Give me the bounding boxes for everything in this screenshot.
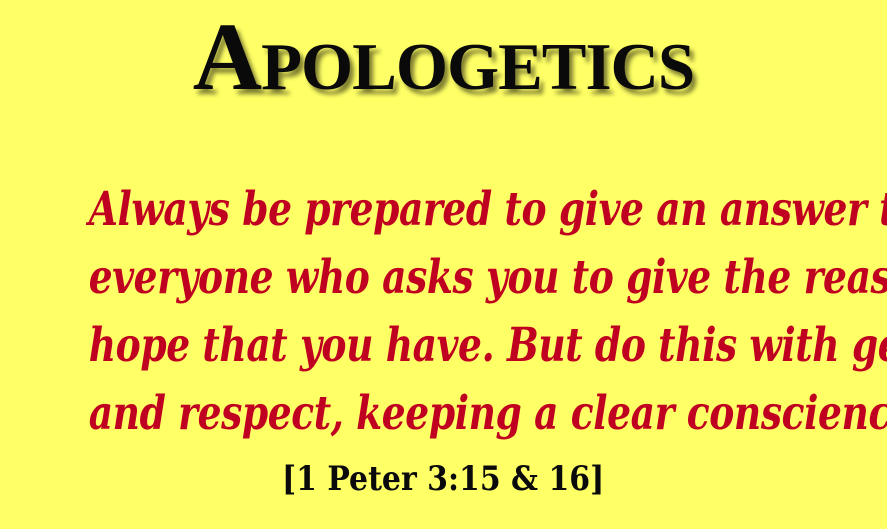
page-title: Apologetics — [193, 8, 694, 106]
title-area: Apologetics — [0, 8, 887, 106]
verse-line: Always be prepared to give an answer to — [89, 176, 799, 244]
verse-line: hope that you have. But do this with gen… — [89, 312, 799, 380]
verse-line: everyone who asks you to give the reason… — [89, 244, 799, 312]
scripture-verse-text: Always be prepared to give an answer to … — [0, 176, 887, 448]
scripture-citation: [1 Peter 3:15 & 16] — [282, 458, 604, 500]
slide-canvas: Apologetics Always be prepared to give a… — [0, 0, 887, 529]
citation-area: [1 Peter 3:15 & 16] — [0, 458, 887, 500]
verse-line: and respect, keeping a clear conscience, — [89, 380, 799, 448]
